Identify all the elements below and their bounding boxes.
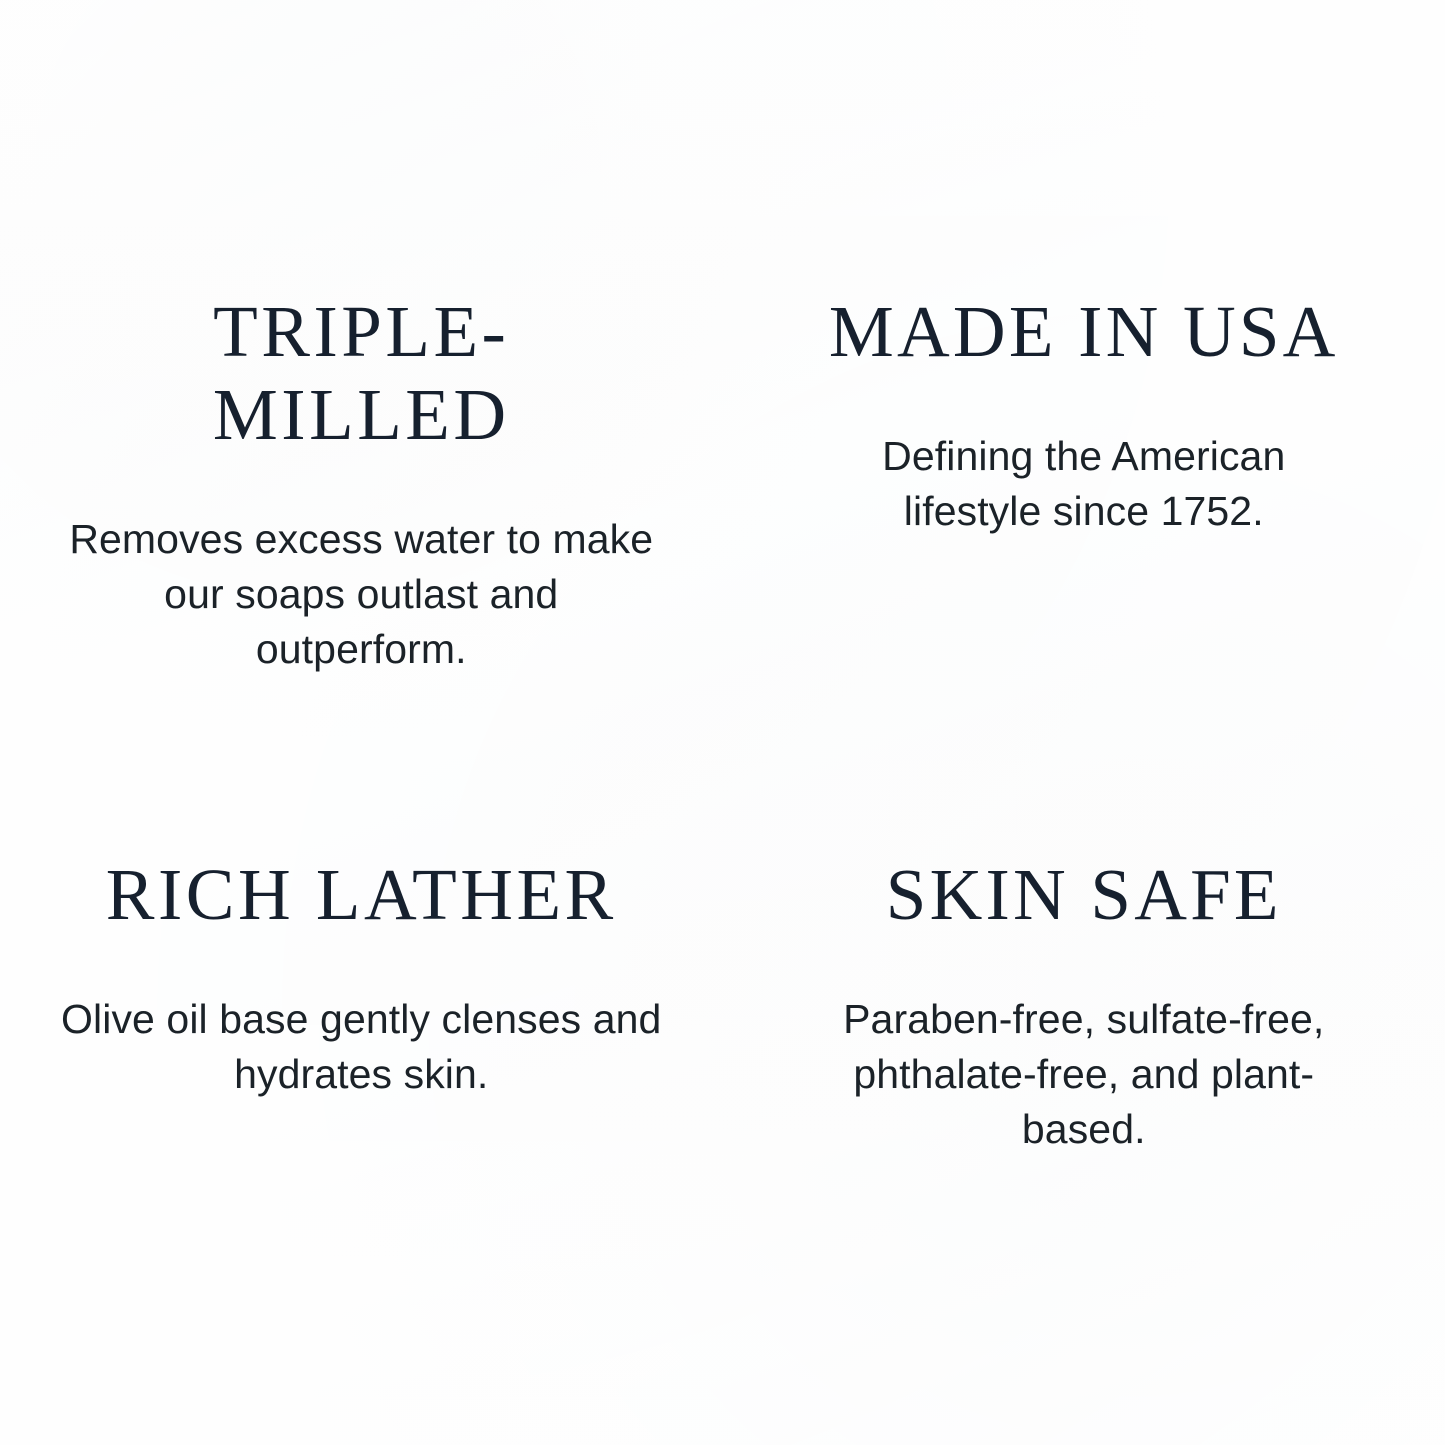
feature-rich-lather: RICH LATHER Olive oil base gently clense… xyxy=(0,723,723,1445)
feature-description-skin-safe: Paraben-free, sulfate-free, phthalate-fr… xyxy=(794,992,1374,1157)
feature-description-rich-lather: Olive oil base gently clenses and hydrat… xyxy=(56,992,667,1102)
feature-triple-milled: TRIPLE-MILLED Removes excess water to ma… xyxy=(0,0,723,723)
product-feature-graphic: TRIPLE-MILLED Removes excess water to ma… xyxy=(0,0,1445,1445)
feature-title-rich-lather: RICH LATHER xyxy=(106,853,617,936)
feature-skin-safe: SKIN SAFE Paraben-free, sulfate-free, ph… xyxy=(723,723,1445,1445)
feature-title-skin-safe: SKIN SAFE xyxy=(886,853,1282,936)
feature-title-triple-milled: TRIPLE-MILLED xyxy=(81,290,641,456)
feature-description-triple-milled: Removes excess water to make our soaps o… xyxy=(66,512,656,677)
feature-title-made-in-usa: MADE IN USA xyxy=(829,290,1339,373)
feature-description-made-in-usa: Defining the American lifestyle since 17… xyxy=(824,429,1344,539)
feature-made-in-usa: MADE IN USA Defining the American lifest… xyxy=(723,0,1445,723)
feature-grid: TRIPLE-MILLED Removes excess water to ma… xyxy=(0,0,1445,1445)
